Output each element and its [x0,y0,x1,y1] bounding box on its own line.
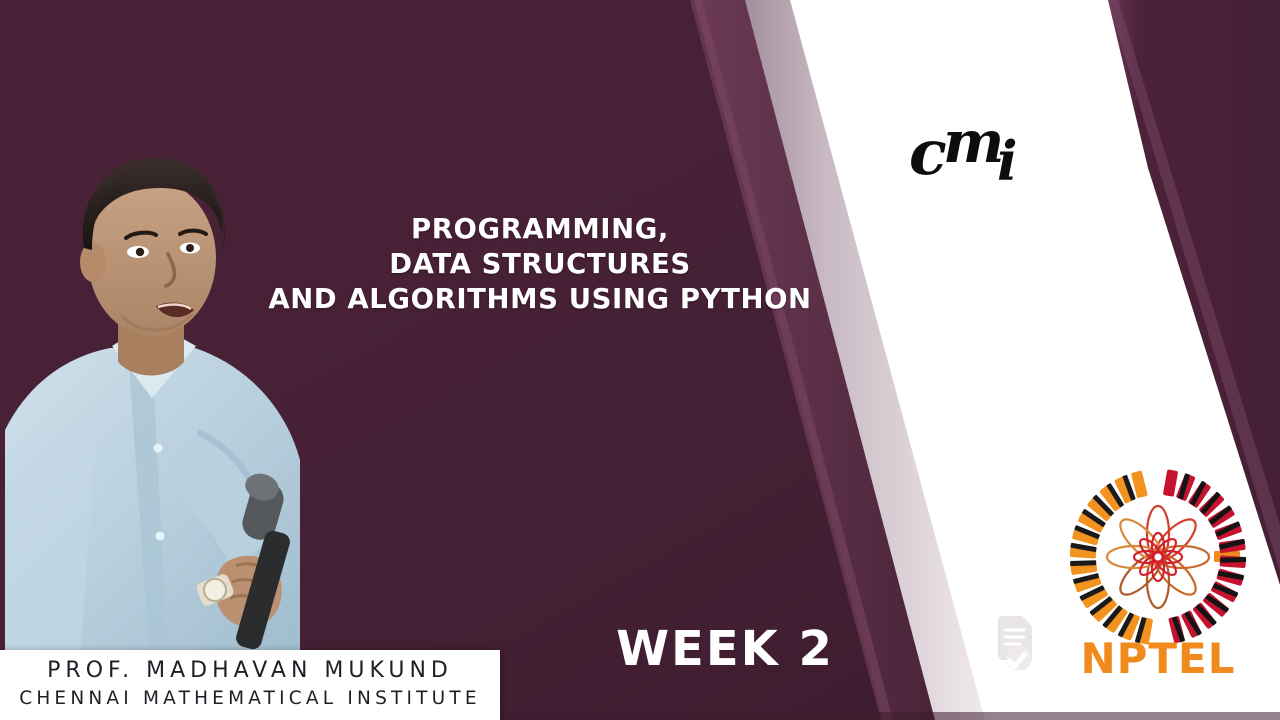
cmi-letter-i: i [997,129,1018,193]
presenter-name-plate: PROF. MADHAVAN MUKUND CHENNAI MATHEMATIC… [0,650,500,720]
cmi-logo: c m i [905,96,1055,196]
course-title-line-1: Programming, [190,212,890,247]
week-label: WEEK 2 [520,625,930,673]
course-title-line-3: and Algorithms using Python [190,282,890,317]
nptel-wordmark: NPTEL [1063,638,1253,680]
presenter-name: PROF. MADHAVAN MUKUND [0,658,500,683]
speaker-portrait [0,130,330,660]
document-check-icon [992,614,1038,670]
page-title: Programming, Data Structures and Algorit… [190,212,890,317]
presenter-organization: CHENNAI MATHEMATICAL INSTITUTE [0,688,500,709]
cmi-letter-m: m [943,108,1004,176]
cmi-letter-c: c [909,116,947,189]
course-title-line-2: Data Structures [190,247,890,282]
course-title-slide: Programming, Data Structures and Algorit… [0,0,1280,720]
